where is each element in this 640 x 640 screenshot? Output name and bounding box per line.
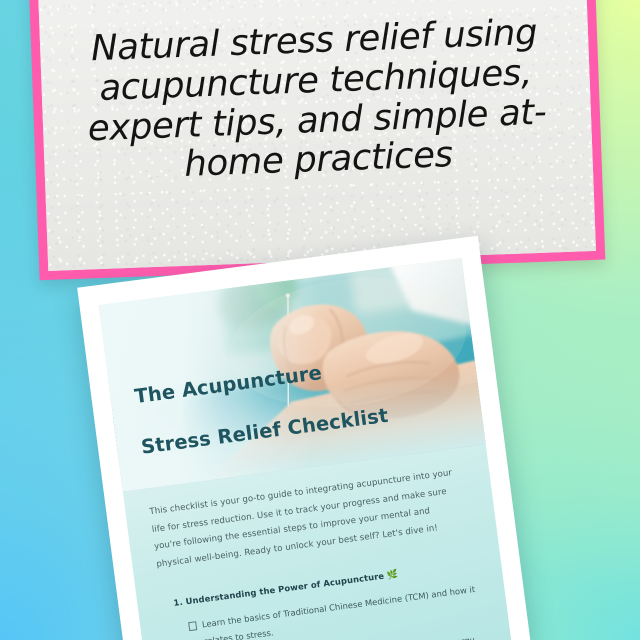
headline-card: Natural stress relief using acupuncture … xyxy=(29,0,606,280)
document-content: The Acupuncture Stress Relief Checklist … xyxy=(99,258,512,640)
document-page: The Acupuncture Stress Relief Checklist … xyxy=(99,258,512,640)
document-title-line-2: Stress Relief Checklist xyxy=(140,395,456,459)
document-title-line-1: The Acupuncture xyxy=(133,345,449,409)
checklist: Learn the basics of Traditional Chinese … xyxy=(164,581,494,640)
headline-paper-texture: Natural stress relief using acupuncture … xyxy=(38,0,596,271)
leaf-icon: 🌿 xyxy=(387,570,400,581)
poster-canvas: Natural stress relief using acupuncture … xyxy=(0,0,640,640)
checkbox-icon[interactable] xyxy=(188,621,197,630)
headline-text: Natural stress relief using acupuncture … xyxy=(59,12,574,190)
document-intro-paragraph: This checklist is your go-to guide to in… xyxy=(149,464,471,574)
checklist-document-card: The Acupuncture Stress Relief Checklist … xyxy=(77,236,531,640)
